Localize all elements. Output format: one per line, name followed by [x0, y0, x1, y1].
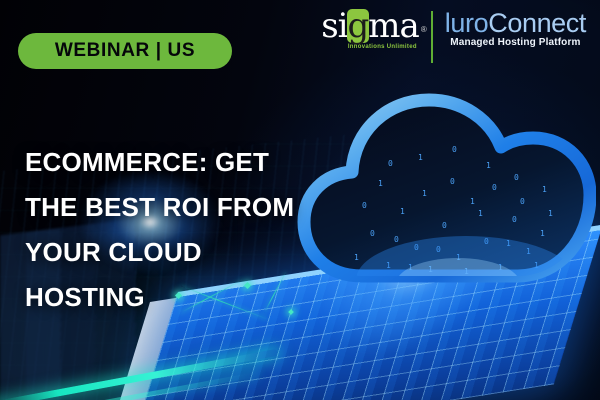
svg-text:1: 1: [478, 209, 483, 218]
registered-trademark-icon: ®: [421, 13, 426, 47]
headline-line-4: HOSTING: [25, 275, 325, 320]
headline-line-2: THE BEST ROI FROM: [25, 185, 325, 230]
svg-text:0: 0: [394, 235, 399, 244]
svg-text:0: 0: [520, 197, 525, 206]
svg-text:1: 1: [418, 153, 423, 162]
svg-text:1: 1: [400, 207, 405, 216]
svg-text:1: 1: [486, 161, 491, 170]
headline-line-1: ECOMMERCE: GET: [25, 140, 325, 185]
svg-text:0: 0: [450, 177, 455, 186]
svg-text:0: 0: [452, 145, 457, 154]
webinar-badge: WEBINAR | US: [18, 33, 232, 69]
logo-lockup: sigma® Innovations Unlimited luroConnect…: [321, 9, 586, 63]
svg-text:0: 0: [362, 201, 367, 210]
luroconnect-logo: luroConnect Managed Hosting Platform: [433, 9, 586, 48]
luro-word-part-1: luro: [445, 8, 488, 38]
sigma-logo: sigma® Innovations Unlimited: [321, 9, 431, 50]
webinar-badge-label: WEBINAR | US: [55, 40, 195, 62]
svg-text:1: 1: [422, 189, 427, 198]
svg-text:1: 1: [378, 179, 383, 188]
svg-text:0: 0: [514, 173, 519, 182]
svg-text:1: 1: [548, 209, 553, 218]
headline: ECOMMERCE: GET THE BEST ROI FROM YOUR CL…: [25, 140, 325, 320]
svg-text:0: 0: [388, 159, 393, 168]
svg-text:1: 1: [542, 185, 547, 194]
sigma-wordmark: sigma®: [321, 9, 419, 43]
svg-text:1: 1: [354, 253, 359, 262]
headline-line-3: YOUR CLOUD: [25, 230, 325, 275]
svg-text:1: 1: [540, 229, 545, 238]
luro-word-part-2: Connect: [488, 8, 586, 38]
cloud-icon: 10 11 01 01 10 10 11 01 01 10 01 10 10 1…: [296, 64, 596, 326]
sigma-word-part-1: si: [321, 6, 347, 46]
luroconnect-wordmark: luroConnect: [445, 9, 586, 38]
svg-text:1: 1: [470, 197, 475, 206]
luroconnect-tagline: Managed Hosting Platform: [445, 37, 586, 48]
sigma-word-part-2: ma: [368, 6, 419, 46]
sigma-word-highlight: g: [347, 9, 370, 43]
svg-text:0: 0: [442, 221, 447, 230]
svg-text:0: 0: [492, 183, 497, 192]
webinar-banner: 10 11 01 01 10 10 11 01 01 10 01 10 10 1…: [0, 0, 600, 400]
svg-text:0: 0: [512, 215, 517, 224]
svg-text:0: 0: [370, 229, 375, 238]
